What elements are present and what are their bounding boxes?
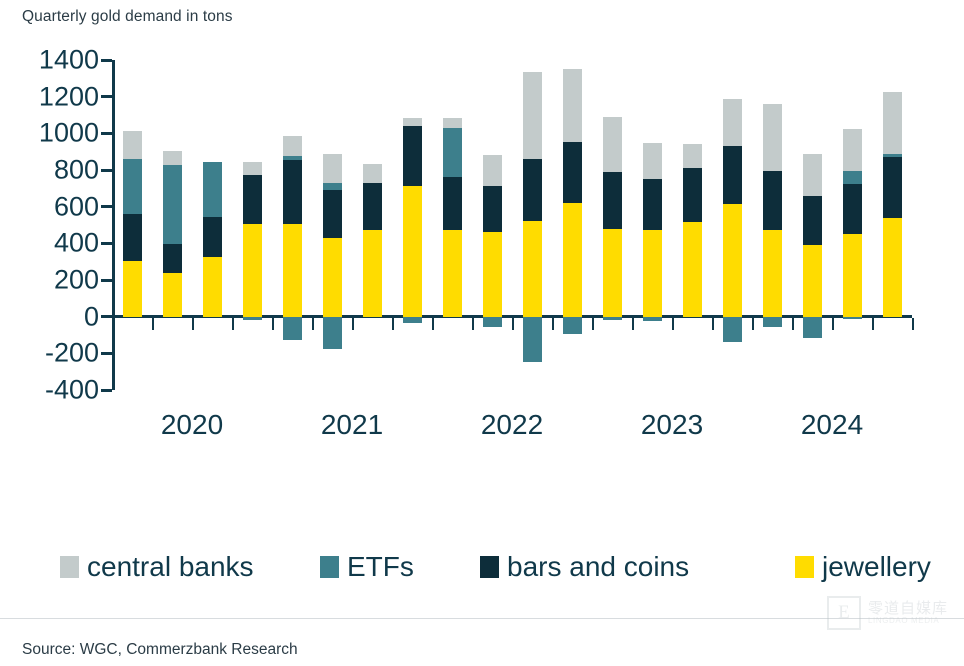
bar-segment[interactable]	[723, 99, 742, 147]
bar-segment[interactable]	[363, 230, 382, 317]
source-note: Source: WGC, Commerzbank Research	[22, 641, 298, 659]
bar-segment[interactable]	[483, 155, 502, 185]
bar-segment[interactable]	[603, 172, 622, 229]
bar-group[interactable]	[563, 60, 582, 390]
y-axis-tick	[101, 242, 112, 245]
legend-label: jewellery	[822, 553, 931, 581]
watermark: E 零道自媒库 LINGDAO MEDIA	[827, 596, 948, 630]
bar-segment[interactable]	[563, 203, 582, 317]
y-axis-tick	[101, 59, 112, 62]
legend-item[interactable]: central banks	[60, 553, 254, 581]
bar-segment[interactable]	[163, 273, 182, 317]
bar-segment[interactable]	[163, 244, 182, 272]
bar-segment[interactable]	[123, 261, 142, 317]
y-axis-tick	[101, 132, 112, 135]
bar-segment[interactable]	[123, 214, 142, 261]
bar-group[interactable]	[123, 60, 142, 390]
bar-segment[interactable]	[603, 229, 622, 317]
bar-segment-negative[interactable]	[843, 317, 862, 320]
y-axis-tick-label: 800	[54, 157, 99, 184]
bar-group[interactable]	[443, 60, 462, 390]
bar-segment[interactable]	[283, 156, 302, 160]
bar-segment[interactable]	[643, 179, 662, 229]
bar-segment[interactable]	[683, 168, 702, 222]
y-axis-tick-label: -400	[45, 377, 99, 404]
bar-segment-negative[interactable]	[243, 317, 262, 321]
legend-label: central banks	[87, 553, 254, 581]
bar-segment[interactable]	[283, 160, 302, 224]
y-axis-tick-label: 1200	[39, 83, 99, 110]
bar-segment[interactable]	[803, 196, 822, 246]
watermark-logo-icon: E	[827, 596, 861, 630]
bar-group[interactable]	[603, 60, 622, 390]
bar-segment-negative[interactable]	[603, 317, 622, 321]
bar-segment[interactable]	[843, 184, 862, 234]
bars-layer	[112, 60, 912, 390]
y-axis-tick	[101, 315, 112, 318]
x-axis-tick	[912, 318, 914, 330]
bar-segment[interactable]	[363, 164, 382, 183]
chart-root: Quarterly gold demand in tons 1400120010…	[0, 0, 964, 666]
bar-segment-negative[interactable]	[523, 317, 542, 362]
bar-segment-negative[interactable]	[283, 317, 302, 340]
legend-label: ETFs	[347, 553, 414, 581]
y-axis-tick-label: 600	[54, 193, 99, 220]
bar-segment[interactable]	[283, 224, 302, 317]
bar-group[interactable]	[643, 60, 662, 390]
legend-swatch-icon	[480, 556, 499, 578]
bar-segment[interactable]	[803, 245, 822, 317]
y-axis-tick	[101, 95, 112, 98]
x-axis-year-label: 2020	[161, 409, 223, 441]
bar-segment[interactable]	[323, 183, 342, 190]
bar-group[interactable]	[763, 60, 782, 390]
legend-swatch-icon	[60, 556, 79, 578]
legend-label: bars and coins	[507, 553, 689, 581]
legend-item[interactable]: jewellery	[795, 553, 931, 581]
y-axis-tick-label: 1000	[39, 120, 99, 147]
bar-segment[interactable]	[523, 72, 542, 159]
bar-segment-negative[interactable]	[643, 317, 662, 322]
y-axis-tick-label: 1400	[39, 47, 99, 74]
bar-segment[interactable]	[443, 118, 462, 128]
bar-segment[interactable]	[523, 221, 542, 316]
bar-segment[interactable]	[203, 257, 222, 317]
bar-segment[interactable]	[803, 154, 822, 195]
bar-segment[interactable]	[843, 171, 862, 184]
chart-title: Quarterly gold demand in tons	[22, 8, 233, 26]
x-axis-year-label: 2024	[801, 409, 863, 441]
bar-group[interactable]	[483, 60, 502, 390]
footer-divider	[0, 618, 964, 619]
bar-segment[interactable]	[763, 104, 782, 171]
bar-segment-negative[interactable]	[403, 317, 422, 323]
bar-segment[interactable]	[763, 230, 782, 317]
bar-group[interactable]	[803, 60, 822, 390]
y-axis-tick	[101, 169, 112, 172]
bar-segment[interactable]	[483, 232, 502, 316]
bar-segment-negative[interactable]	[723, 317, 742, 343]
bar-segment[interactable]	[683, 222, 702, 316]
y-axis-tick	[101, 389, 112, 392]
bar-group[interactable]	[683, 60, 702, 390]
y-axis-tick	[101, 352, 112, 355]
bar-segment[interactable]	[723, 204, 742, 317]
bar-group[interactable]	[843, 60, 862, 390]
x-axis-year-label: 2022	[481, 409, 543, 441]
legend-swatch-icon	[320, 556, 339, 578]
bar-group[interactable]	[723, 60, 742, 390]
bar-segment[interactable]	[523, 159, 542, 221]
bar-segment-negative[interactable]	[483, 317, 502, 327]
bar-segment-negative[interactable]	[763, 317, 782, 327]
bar-segment[interactable]	[323, 190, 342, 238]
bar-segment[interactable]	[243, 162, 262, 175]
bar-segment[interactable]	[323, 238, 342, 317]
bar-group[interactable]	[883, 60, 902, 390]
bar-segment[interactable]	[683, 144, 702, 168]
bar-segment[interactable]	[363, 183, 382, 230]
x-axis-year-label: 2021	[321, 409, 383, 441]
y-axis-tick-label: 200	[54, 267, 99, 294]
bar-segment[interactable]	[203, 217, 222, 257]
legend-swatch-icon	[795, 556, 814, 578]
bar-segment-negative[interactable]	[563, 317, 582, 334]
bar-segment[interactable]	[723, 146, 742, 204]
x-axis-year-label: 2023	[641, 409, 703, 441]
bar-group[interactable]	[363, 60, 382, 390]
plot-area: 1400120010008006004002000-200-400	[112, 60, 912, 390]
legend-item[interactable]: bars and coins	[480, 553, 689, 581]
bar-segment[interactable]	[163, 151, 182, 165]
bar-segment[interactable]	[483, 186, 502, 233]
bar-segment[interactable]	[883, 157, 902, 218]
bar-group[interactable]	[323, 60, 342, 390]
bar-segment[interactable]	[403, 186, 422, 317]
bar-segment[interactable]	[443, 128, 462, 178]
bar-segment[interactable]	[443, 177, 462, 229]
bar-segment-negative[interactable]	[803, 317, 822, 338]
bar-group[interactable]	[243, 60, 262, 390]
bar-group[interactable]	[203, 60, 222, 390]
bar-segment[interactable]	[563, 69, 582, 141]
bar-group[interactable]	[403, 60, 422, 390]
y-axis-tick-label: 400	[54, 230, 99, 257]
bar-segment[interactable]	[403, 126, 422, 186]
bar-segment[interactable]	[443, 230, 462, 317]
bar-segment-negative[interactable]	[323, 317, 342, 349]
bar-group[interactable]	[523, 60, 542, 390]
watermark-text-cn: 零道自媒库	[868, 601, 948, 617]
y-axis-tick	[101, 205, 112, 208]
y-axis-tick-label: 0	[84, 303, 99, 330]
bar-segment[interactable]	[123, 131, 142, 159]
bar-segment[interactable]	[163, 165, 182, 245]
bar-segment[interactable]	[123, 159, 142, 214]
bar-segment[interactable]	[763, 171, 782, 230]
bar-segment[interactable]	[283, 136, 302, 156]
bar-segment[interactable]	[563, 142, 582, 203]
bar-segment[interactable]	[243, 224, 262, 317]
y-axis-tick-label: -200	[45, 340, 99, 367]
bar-group[interactable]	[163, 60, 182, 390]
bar-segment[interactable]	[883, 154, 902, 157]
bar-segment[interactable]	[843, 129, 862, 171]
bar-segment[interactable]	[323, 154, 342, 183]
legend-item[interactable]: ETFs	[320, 553, 414, 581]
bar-segment[interactable]	[203, 162, 222, 217]
bar-segment[interactable]	[243, 175, 262, 225]
bar-segment[interactable]	[883, 218, 902, 317]
y-axis-tick	[101, 279, 112, 282]
bar-segment[interactable]	[603, 117, 622, 172]
bar-group[interactable]	[283, 60, 302, 390]
chart-legend: central banksETFsbars and coinsjewellery	[60, 545, 920, 589]
bar-segment[interactable]	[643, 230, 662, 317]
bar-segment[interactable]	[403, 118, 422, 126]
bar-segment[interactable]	[843, 234, 862, 317]
bar-segment[interactable]	[883, 92, 902, 154]
bar-segment[interactable]	[643, 143, 662, 179]
